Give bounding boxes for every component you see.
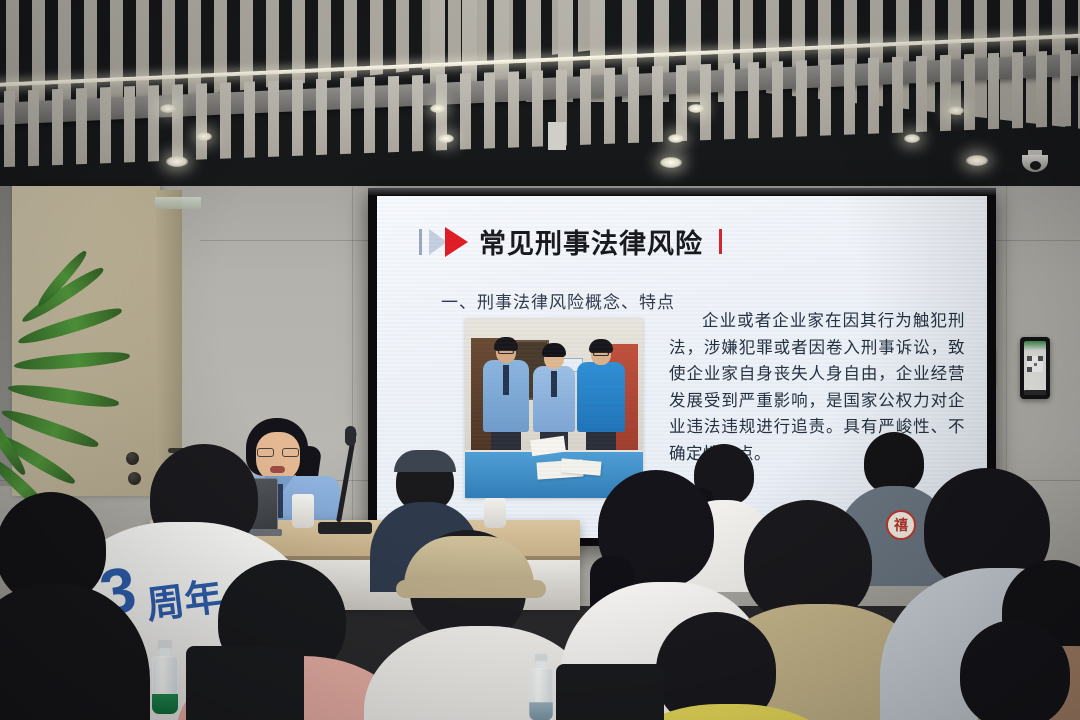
qr-code-icon <box>1027 356 1043 372</box>
audience-member <box>940 620 1080 720</box>
conference-room-scene: 常见刑事法律风险 一、刑事法律风险概念、特点 <box>0 0 1080 720</box>
photo-person-right <box>577 343 625 456</box>
ceiling-projector-mount <box>548 122 566 150</box>
cap-icon <box>394 450 456 472</box>
card-reader-slot <box>1024 390 1046 395</box>
paper-cup <box>484 498 506 528</box>
slide-title-row: 常见刑事法律风险 <box>419 222 722 261</box>
water-bottle <box>152 640 178 714</box>
access-control-panel[interactable] <box>1020 337 1050 399</box>
door-sign <box>155 197 201 209</box>
ceiling-downlight-row <box>966 155 988 166</box>
triangle-red-icon <box>445 227 468 257</box>
cap-brim-icon <box>396 580 546 598</box>
slide-title: 常见刑事法律风险 <box>479 222 703 261</box>
ceiling-downlight <box>160 104 176 113</box>
ceiling-downlight <box>196 132 212 141</box>
chair-back <box>186 646 304 720</box>
water-bottle <box>529 654 552 720</box>
ceiling-downlight <box>668 134 684 143</box>
photo-person-left <box>483 341 529 458</box>
slide-section-heading: 一、刑事法律风险概念、特点 <box>441 288 675 313</box>
ceiling-downlight-row <box>660 157 682 168</box>
ceiling-downlight <box>438 134 454 143</box>
title-bar-red-icon <box>719 229 722 254</box>
ceiling-downlight <box>948 106 964 115</box>
security-camera-icon <box>1022 150 1048 172</box>
ceiling-downlight <box>904 134 920 143</box>
ceiling <box>0 0 1080 200</box>
audience-member <box>0 492 140 720</box>
chair-back <box>556 664 664 720</box>
title-bar-grey-icon <box>419 229 422 255</box>
ceiling-downlight <box>430 104 446 113</box>
ceiling-downlight-row <box>166 156 188 167</box>
ceiling-downlight <box>688 104 704 113</box>
